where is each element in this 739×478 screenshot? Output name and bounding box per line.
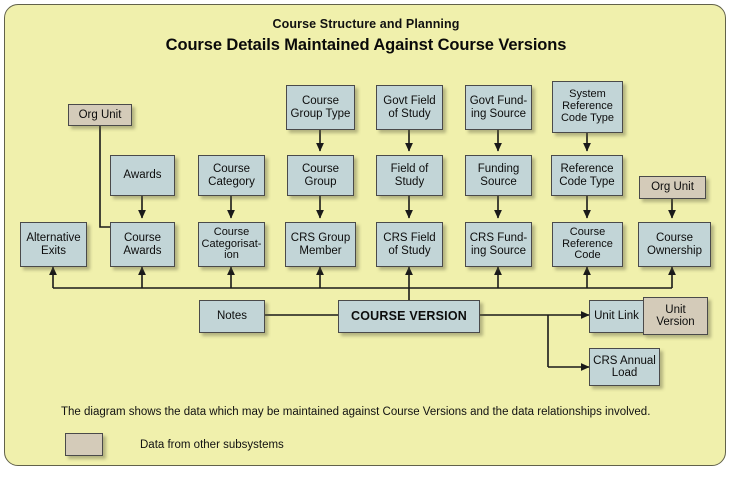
node-unit-link[interactable]: Unit Link bbox=[589, 300, 644, 333]
node-crs-annual-load[interactable]: CRS Annual Load bbox=[589, 348, 660, 386]
node-course-group-type[interactable]: Course Group Type bbox=[286, 85, 355, 130]
node-course-ownership[interactable]: Course Ownership bbox=[638, 222, 711, 267]
node-unit-version[interactable]: Unit Version bbox=[643, 297, 708, 335]
node-notes[interactable]: Notes bbox=[199, 300, 265, 333]
node-awards[interactable]: Awards bbox=[110, 155, 175, 196]
node-govt-field-of-study[interactable]: Govt Field of Study bbox=[376, 85, 443, 130]
node-crs-field-of-study[interactable]: CRS Field of Study bbox=[376, 222, 443, 267]
node-funding-source[interactable]: Funding Source bbox=[465, 155, 532, 196]
node-alternative-exits[interactable]: Alternative Exits bbox=[20, 222, 87, 267]
legend: Data from other subsystems bbox=[65, 433, 284, 456]
node-course-category[interactable]: Course Category bbox=[198, 155, 265, 196]
legend-label: Data from other subsystems bbox=[140, 439, 284, 451]
node-system-reference-code-type[interactable]: System Reference Code Type bbox=[552, 81, 623, 133]
node-course-group[interactable]: Course Group bbox=[287, 155, 354, 196]
node-crs-funding-source[interactable]: CRS Fund- ing Source bbox=[465, 222, 532, 267]
node-org-unit-right[interactable]: Org Unit bbox=[639, 176, 706, 199]
footer-note: The diagram shows the data which may be … bbox=[61, 406, 691, 418]
node-org-unit-top[interactable]: Org Unit bbox=[68, 104, 132, 126]
legend-swatch-external bbox=[65, 433, 103, 456]
node-course-awards[interactable]: Course Awards bbox=[110, 222, 175, 267]
node-crs-group-member[interactable]: CRS Group Member bbox=[285, 222, 356, 267]
node-reference-code-type[interactable]: Reference Code Type bbox=[551, 155, 623, 196]
node-govt-funding-source[interactable]: Govt Fund- ing Source bbox=[465, 85, 532, 130]
node-course-reference-code[interactable]: Course Reference Code bbox=[552, 222, 623, 267]
node-field-of-study[interactable]: Field of Study bbox=[376, 155, 443, 196]
diagram-canvas: Course Structure and Planning Course Det… bbox=[4, 4, 726, 466]
node-course-version[interactable]: COURSE VERSION bbox=[338, 300, 480, 333]
node-course-categorisation[interactable]: Course Categorisat- ion bbox=[198, 222, 265, 267]
